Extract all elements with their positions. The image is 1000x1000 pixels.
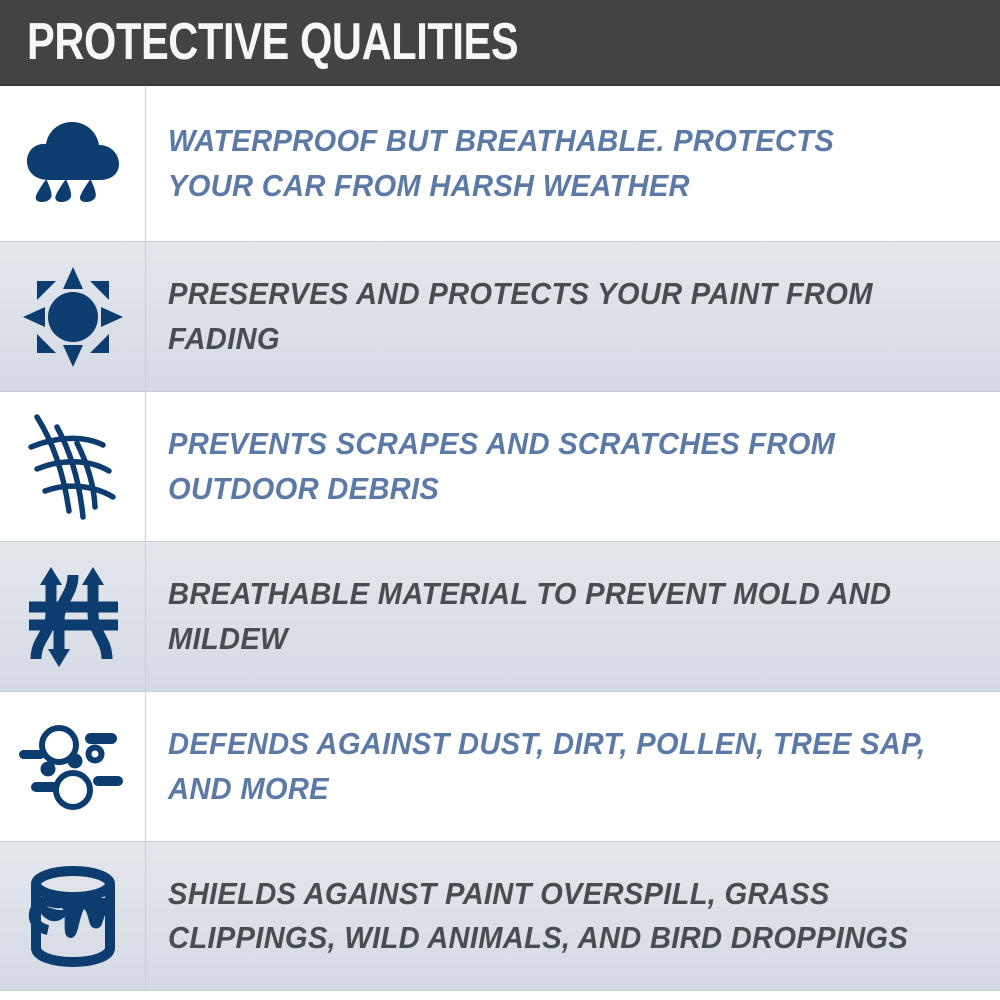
row-text-cell: DEFENDS AGAINST DUST, DIRT, POLLEN, TREE…	[146, 692, 1000, 841]
protective-qualities-infographic: PROTECTIVE QUALITIES WAT	[0, 0, 1000, 1000]
bottom-strip	[0, 994, 1000, 1000]
row-icon-cell	[0, 86, 146, 241]
row-text-cell: BREATHABLE MATERIAL TO PREVENT MOLD AND …	[146, 542, 1000, 691]
list-item-label: BREATHABLE MATERIAL TO PREVENT MOLD AND …	[168, 572, 926, 660]
row-icon-cell	[0, 392, 146, 541]
row-icon-cell	[0, 692, 146, 841]
list-item: WATERPROOF BUT BREATHABLE. PROTECTS YOUR…	[0, 86, 1000, 242]
rain-cloud-icon	[21, 114, 125, 214]
dust-particles-icon	[17, 722, 129, 812]
scratch-mesh-icon	[21, 411, 125, 523]
list-item-label: WATERPROOF BUT BREATHABLE. PROTECTS YOUR…	[168, 119, 926, 207]
page-title: PROTECTIVE QUALITIES	[27, 16, 518, 68]
list-item: DEFENDS AGAINST DUST, DIRT, POLLEN, TREE…	[0, 692, 1000, 842]
row-text-cell: PRESERVES AND PROTECTS YOUR PAINT FROM F…	[146, 242, 1000, 391]
row-icon-cell	[0, 542, 146, 691]
header-bar: PROTECTIVE QUALITIES	[0, 0, 1000, 86]
list-item-label: PRESERVES AND PROTECTS YOUR PAINT FROM F…	[168, 272, 926, 360]
list-item-label: SHIELDS AGAINST PAINT OVERSPILL, GRASS C…	[168, 872, 926, 960]
row-text-cell: SHIELDS AGAINST PAINT OVERSPILL, GRASS C…	[146, 842, 1000, 990]
sun-icon	[23, 267, 123, 367]
list-item: BREATHABLE MATERIAL TO PREVENT MOLD AND …	[0, 542, 1000, 692]
row-text-cell: PREVENTS SCRAPES AND SCRATCHES FROM OUTD…	[146, 392, 1000, 541]
list-item: PRESERVES AND PROTECTS YOUR PAINT FROM F…	[0, 242, 1000, 392]
paint-can-icon	[22, 864, 124, 968]
breathable-airflow-icon	[23, 567, 123, 667]
list-item-label: PREVENTS SCRAPES AND SCRATCHES FROM OUTD…	[168, 422, 926, 510]
list-item: PREVENTS SCRAPES AND SCRATCHES FROM OUTD…	[0, 392, 1000, 542]
row-text-cell: WATERPROOF BUT BREATHABLE. PROTECTS YOUR…	[146, 86, 1000, 241]
row-icon-cell	[0, 842, 146, 990]
list-item: SHIELDS AGAINST PAINT OVERSPILL, GRASS C…	[0, 842, 1000, 991]
feature-list: WATERPROOF BUT BREATHABLE. PROTECTS YOUR…	[0, 86, 1000, 1000]
list-item-label: DEFENDS AGAINST DUST, DIRT, POLLEN, TREE…	[168, 722, 926, 810]
row-icon-cell	[0, 242, 146, 391]
